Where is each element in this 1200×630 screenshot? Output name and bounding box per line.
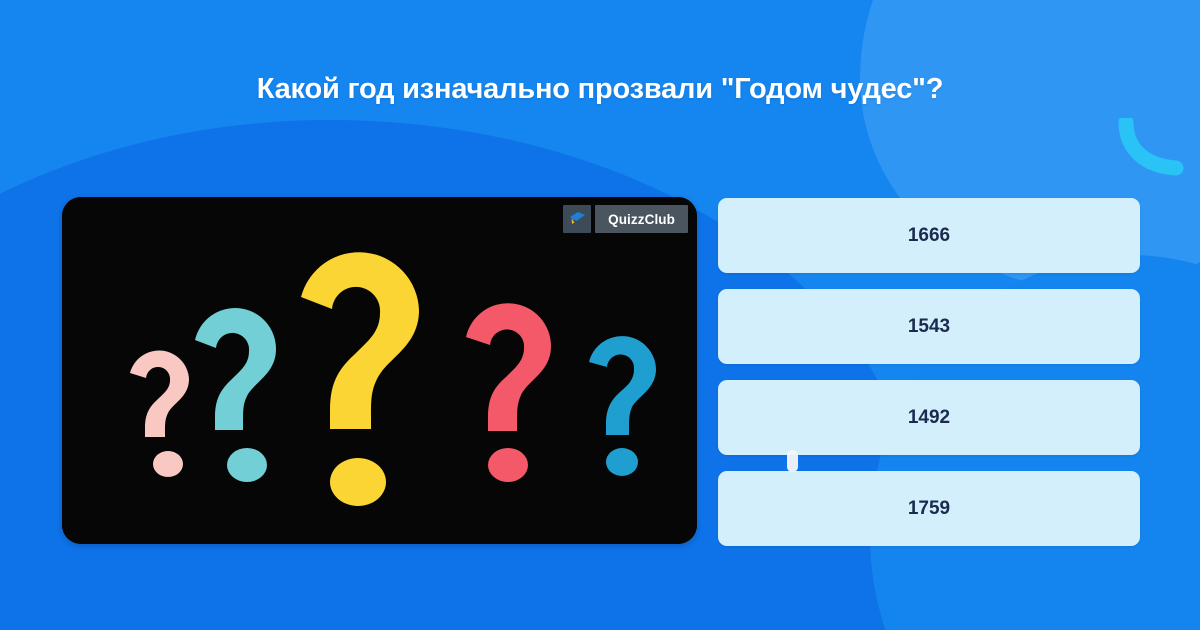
- answer-option-3[interactable]: 1492: [718, 380, 1140, 455]
- answer-option-label: 1492: [908, 407, 950, 429]
- swoosh-arc-icon: [1118, 118, 1184, 178]
- answer-option-1[interactable]: 1666: [718, 198, 1140, 273]
- answer-options-list: 1666 1543 1492 1759: [718, 198, 1140, 546]
- watermark: QuizzClub: [563, 205, 688, 233]
- answer-option-label: 1759: [908, 498, 950, 520]
- answer-option-4[interactable]: 1759: [718, 471, 1140, 546]
- question-title: Какой год изначально прозвали "Годом чуд…: [0, 74, 1200, 106]
- question-image-card: QuizzClub: [62, 197, 697, 544]
- answer-option-2[interactable]: 1543: [718, 289, 1140, 364]
- answer-option-label: 1543: [908, 316, 950, 338]
- quiz-question-card: Какой год изначально прозвали "Годом чуд…: [0, 0, 1200, 630]
- graduation-cap-icon: [563, 205, 591, 233]
- answer-option-label: 1666: [908, 225, 950, 247]
- cursor-artifact[interactable]: [787, 450, 798, 472]
- question-marks-illustration: [62, 197, 697, 544]
- watermark-brand-label: QuizzClub: [595, 205, 688, 233]
